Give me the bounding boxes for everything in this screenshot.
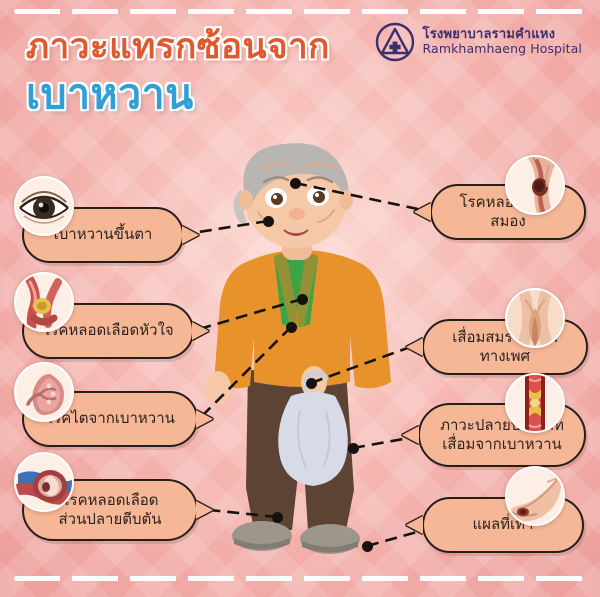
elderly-person-illustration <box>196 138 406 568</box>
label-text-line2: เสื่อมจากเบาหวาน <box>442 435 562 454</box>
anchor-dot-leg <box>272 512 283 523</box>
triangle-cross-circle-logo-icon <box>375 22 415 62</box>
anchor-dot-groin <box>306 378 317 389</box>
hospital-logo-text: โรงพยาบาลรามคำแหง Ramkhamhaeng Hospital <box>423 27 582 57</box>
foot-ulcer-icon <box>505 466 565 526</box>
title-line-primary: ภาวะแทรกซ้อนจาก <box>26 30 376 65</box>
kidney-icon <box>14 362 74 422</box>
title-line-secondary: เบาหวาน <box>26 74 376 115</box>
hospital-name-en: Ramkhamhaeng Hospital <box>423 42 582 57</box>
label-tail-peripheral-artery-disease <box>196 501 213 519</box>
label-tail-diabetic-retinopathy <box>182 226 199 244</box>
pelvis-icon <box>505 288 565 348</box>
anchor-dot-eye <box>263 216 274 227</box>
label-tail-stroke <box>414 203 431 221</box>
diabetes-complications-infographic: ภาวะแทรกซ้อนจาก เบาหวาน โรงพยาบาลรามคำแห… <box>0 0 600 597</box>
artery-cross-section-icon <box>14 452 74 512</box>
poster-title: ภาวะแทรกซ้อนจาก เบาหวาน <box>26 30 376 115</box>
anchor-dot-head <box>290 178 301 189</box>
bottom-dashed-rule <box>14 576 586 581</box>
label-tail-diabetic-nephropathy <box>196 410 213 428</box>
label-tail-foot-ulcer <box>406 516 423 534</box>
label-tail-coronary-heart-disease <box>192 322 209 340</box>
hospital-logo: โรงพยาบาลรามคำแหง Ramkhamhaeng Hospital <box>375 22 582 62</box>
coronary-artery-icon <box>14 272 74 332</box>
top-dashed-rule <box>14 9 586 14</box>
label-tail-erectile-dysfunction <box>406 338 423 356</box>
label-tail-diabetic-neuropathy <box>402 426 419 444</box>
anchor-dot-abdomen <box>286 322 297 333</box>
label-text-line2: ส่วนปลายตีบตัน <box>58 510 161 529</box>
anchor-dot-chest <box>297 294 308 305</box>
label-text-line1: โรคหลอดเลือด <box>61 491 158 510</box>
brain-vessel-icon <box>505 155 565 215</box>
hospital-name-th: โรงพยาบาลรามคำแหง <box>423 27 582 42</box>
nerve-vessel-icon <box>505 373 565 433</box>
label-text: เบาหวานขึ้นตา <box>54 225 153 244</box>
eye-icon <box>14 176 74 236</box>
anchor-dot-knee <box>348 443 359 454</box>
anchor-dot-foot <box>362 541 373 552</box>
